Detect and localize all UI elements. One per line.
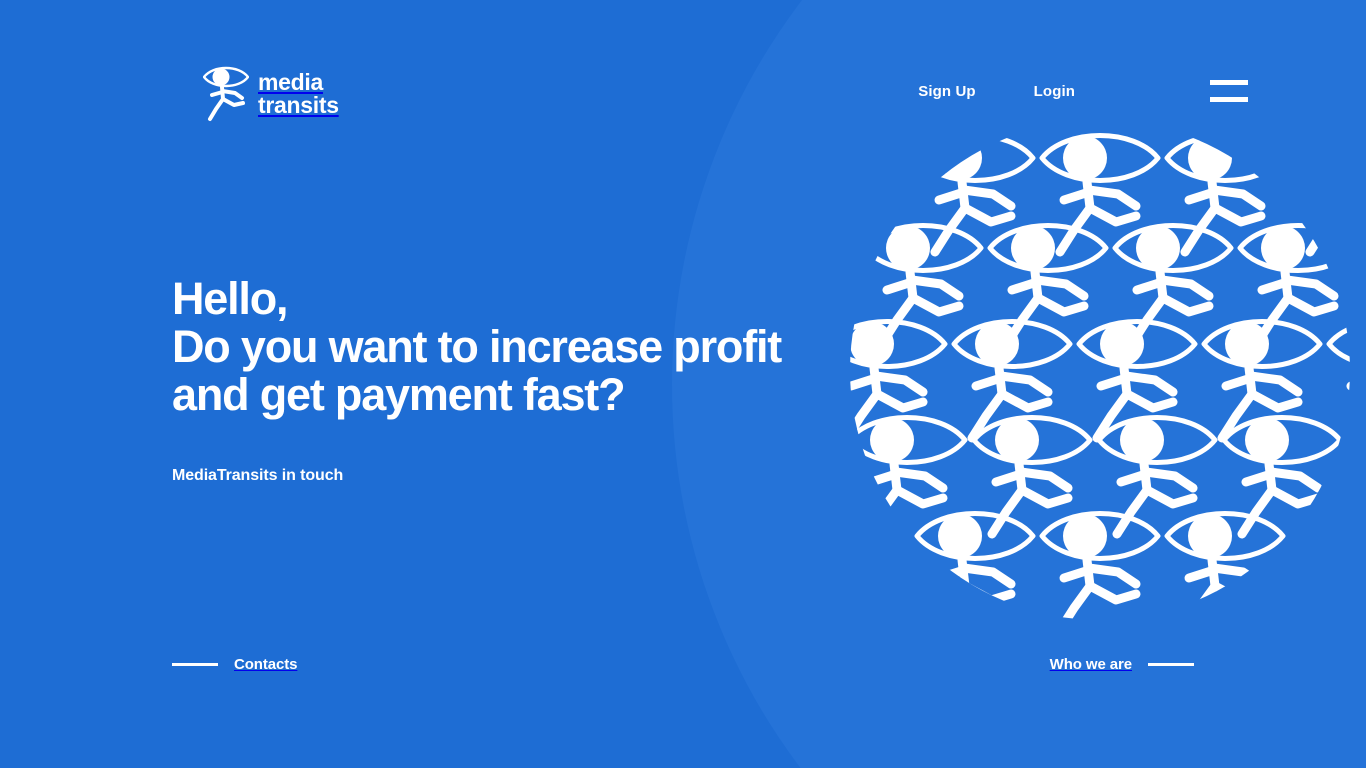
rule-line-icon [1148,663,1194,666]
contacts-label: Contacts [234,656,297,673]
hero-section: Hello, Do you want to increase profit an… [172,275,822,485]
logo-wordmark: media transits [258,71,339,117]
hamburger-bar-2 [1210,97,1248,102]
site-header: media transits Sign Up Login [0,0,1366,175]
hamburger-bar-1 [1210,80,1248,85]
signup-link[interactable]: Sign Up [918,83,975,100]
eye-runners-circle-illustration [840,120,1360,620]
eye-runner-icon [203,64,249,124]
logo-line-2: transits [258,94,339,117]
who-we-are-link[interactable]: Who we are [1050,656,1194,673]
main-navigation: Sign Up Login [918,80,1248,102]
logo[interactable]: media transits [203,64,339,124]
contacts-link[interactable]: Contacts [172,656,297,673]
landing-page: media transits Sign Up Login Hello, Do y… [0,0,1366,768]
hero-subtitle: MediaTransits in touch [172,467,822,485]
who-we-are-label: Who we are [1050,656,1132,673]
page-title: Hello, Do you want to increase profit an… [172,275,822,419]
rule-line-icon [172,663,218,666]
login-link[interactable]: Login [1034,83,1075,100]
hamburger-menu-icon[interactable] [1210,80,1248,102]
logo-line-1: media [258,71,339,94]
